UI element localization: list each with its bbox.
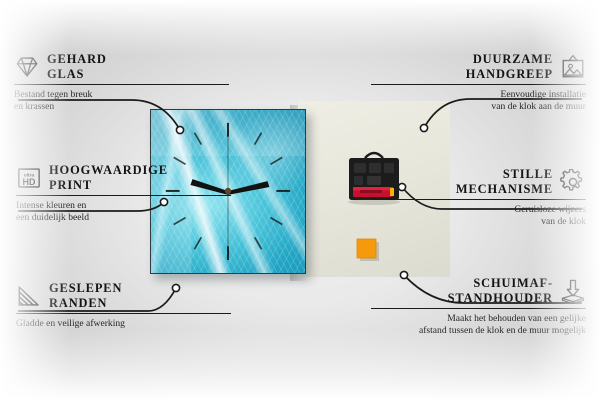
feature-title: SCHUIMAF- STANDHOUDER: [448, 276, 553, 305]
hanging-picture-icon: [560, 54, 586, 80]
feature-title: DUURZAME HANDGREEP: [466, 52, 553, 81]
feature-header: STILLE MECHANISME: [371, 167, 586, 196]
feature-description: Gladde en veilige afwerking: [16, 318, 231, 330]
connector-dot-gehard-glas: [176, 126, 183, 133]
feature-header: SCHUIMAF- STANDHOUDER: [371, 276, 586, 305]
feature-title: GEHARD GLAS: [47, 52, 107, 81]
feature-stille-mechanisme: STILLE MECHANISME Geruisloze wijzers van…: [371, 167, 586, 228]
feature-title: GESLEPEN RANDEN: [49, 281, 122, 310]
feature-title: HOOGWAARDIGE PRINT: [49, 163, 168, 192]
feature-title: STILLE MECHANISME: [456, 167, 553, 196]
feature-rule: [371, 308, 586, 309]
feature-rule: [371, 199, 586, 200]
beveled-edge-icon: [16, 283, 42, 309]
feature-gehard-glas: GEHARD GLAS Bestand tegen breuk en krass…: [14, 52, 229, 113]
feature-description: Eenvoudige installatie van de klok aan d…: [371, 89, 586, 113]
gear-icon: [560, 169, 586, 195]
feature-description: Intense kleuren en een duidelijk beeld: [16, 200, 231, 224]
feature-description: Geruisloze wijzers van de klok: [371, 204, 586, 228]
feature-rule: [371, 84, 586, 85]
feature-hoogwaardige-print: ultra HD HOOGWAARDIGE PRINT Intense kleu…: [16, 163, 231, 224]
diamond-icon: [14, 54, 40, 80]
feature-geslepen-randen: GESLEPEN RANDEN Gladde en veilige afwerk…: [16, 281, 231, 330]
feature-description: Bestand tegen breuk en krassen: [14, 89, 229, 113]
feature-rule: [14, 84, 229, 85]
feature-description: Maakt het behouden van een gelijke afsta…: [371, 313, 586, 337]
feature-header: ultra HD HOOGWAARDIGE PRINT: [16, 163, 231, 192]
foam-spacer-icon: [560, 278, 586, 304]
feature-header: GEHARD GLAS: [14, 52, 229, 81]
feature-rule: [16, 313, 231, 314]
feature-schuimafstandhouder: SCHUIMAF- STANDHOUDER Maakt het behouden…: [371, 276, 586, 337]
infographic-stage: GEHARD GLAS Bestand tegen breuk en krass…: [0, 0, 600, 400]
feature-header: GESLEPEN RANDEN: [16, 281, 231, 310]
feature-header: DUURZAME HANDGREEP: [371, 52, 586, 81]
hd-badge-large: HD: [23, 176, 36, 186]
ultra-hd-icon: ultra HD: [16, 165, 42, 191]
feature-duurzame-handgreep: DUURZAME HANDGREEP Eenvoudige installati…: [371, 52, 586, 113]
feature-rule: [16, 195, 231, 196]
connector-dot-handgreep: [420, 124, 427, 131]
